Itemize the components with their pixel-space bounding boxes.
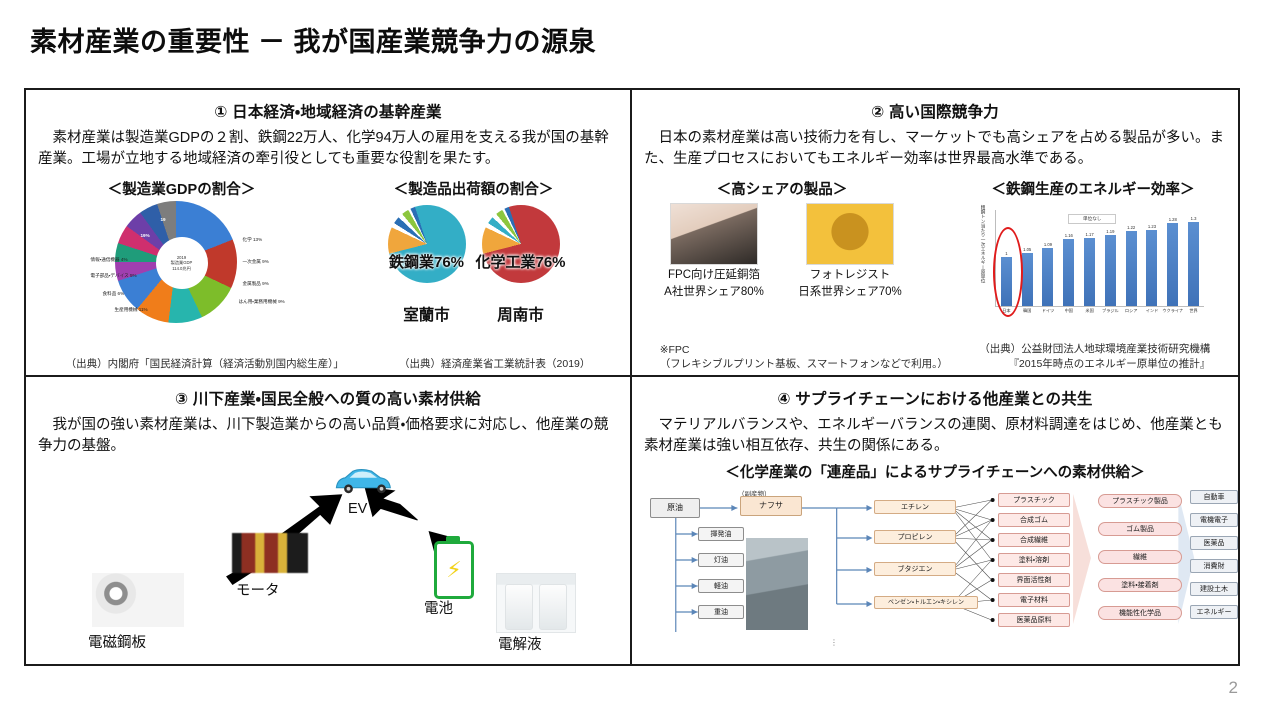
bar-value-9: 1.3 (1191, 216, 1197, 221)
quadrant-1-charts: ＜製造業GDPの割合＞ 2019 製造業GDP 114.0兆円 19 19% 化… (36, 174, 620, 325)
donut-label-3: 一次金属 9% (243, 259, 269, 265)
quadrant-2-sources: ※FPC （フレキシブルプリント基板、スマートフォンなどで利用。） （出典）公益… (632, 341, 1238, 371)
sc-crude-oil: 原油 (650, 498, 700, 518)
page-title: 素材産業の重要性 － 我が国産業競争力の源泉 (30, 20, 596, 59)
bar-col-3: 1.16 中国 (1063, 210, 1075, 306)
sc-material-4: 界面活性剤 (998, 573, 1070, 587)
donut-label-9: 生産用機械 11% (115, 307, 148, 313)
fpc-footnote: ※FPC （フレキシブルプリント基板、スマートフォンなどで利用。） (660, 344, 948, 371)
sc-industry-4: 建設土木 (1190, 582, 1238, 596)
pie-city-shunan: 周南市 (497, 303, 544, 325)
donut-wrap: 2019 製造業GDP 114.0兆円 19 19% 化学 13% 一次金属 9… (97, 203, 267, 323)
source-rite: （出典）公益財団法人地球環境産業技術研究機構 『2015年時点のエネルギー原単位… (979, 341, 1210, 371)
bar-col-5: 1.19 ブラジル (1104, 210, 1116, 306)
bolt-icon: ⚡ (446, 559, 461, 581)
bar-category-9: 世界 (1189, 308, 1197, 314)
sc-material-0: プラスチック (998, 493, 1070, 507)
ev-supply-diagram: EV モータ 電磁鋼板 ⚡ 電池 電解液 (36, 461, 620, 657)
sc-industry-5: エネルギー (1190, 605, 1238, 619)
sc-industry-2: 医薬品 (1190, 536, 1238, 550)
slide: 素材産業の重要性 － 我が国産業競争力の源泉 ① 日本経済・地域経済の基幹産業 … (0, 0, 1266, 712)
donut-label-4: 金属製品 9% (243, 281, 269, 287)
product-share-1: 日系世界シェア70% (798, 285, 902, 299)
sc-product-4: 機能性化学品 (1098, 606, 1182, 620)
sc-fraction-0: 揮発油 (698, 527, 744, 541)
quadrant-2-title: ② 高い国際競争力 (642, 100, 1228, 122)
bar-category-2: ドイツ (1042, 308, 1055, 314)
bar-value-3: 1.16 (1065, 233, 1073, 238)
quadrant-4: ④ サプライチェーンにおける他産業との共生 マテリアルバランスや、エネルギーバラ… (632, 377, 1238, 664)
supply-chain-heading: ＜化学産業の「連産品」によるサプライチェーンへの素材供給＞ (642, 461, 1228, 482)
electrical-steel-label: 電磁鋼板 (88, 631, 146, 652)
motor-image (232, 533, 308, 573)
quadrant-3-title: ③ 川下産業・国民全般への質の高い素材供給 (36, 387, 620, 409)
sc-material-3: 塗料・溶剤 (998, 553, 1070, 567)
product-list: FPC向け圧延銅箔 A社世界シェア80% フォトレジスト 日系世界シェア70% (642, 203, 922, 300)
bar-col-1: 1.05 韓国 (1021, 210, 1033, 306)
energy-efficiency-chart: ＜鉄鋼生産のエネルギー効率＞ 粗鋼トン当たり一次エネルギー原単位 単位なし 1 … (958, 174, 1228, 307)
sc-ellipsis: ⋮ (830, 638, 840, 647)
sc-olefin-2: ブタジエン (874, 562, 956, 576)
bar-value-2: 1.09 (1044, 242, 1052, 247)
pie-item-muroran: 鉄鋼業76% 室蘭市 (388, 205, 466, 325)
bar-value-1: 1.05 (1023, 247, 1031, 252)
quadrant-4-title: ④ サプライチェーンにおける他産業との共生 (642, 387, 1228, 409)
sc-olefin-1: プロピレン (874, 530, 956, 544)
bar-col-6: 1.22 ロシア (1125, 210, 1137, 306)
sc-product-3: 塗料・接着剤 (1098, 578, 1182, 592)
gdp-chart-heading: ＜製造業GDPの割合＞ (108, 178, 255, 199)
ev-label: EV (348, 501, 367, 517)
content-grid: ① 日本経済・地域経済の基幹産業 素材産業は製造業GDPの２割、鉄鋼22万人、化… (24, 88, 1240, 666)
sc-olefin-0: エチレン (874, 500, 956, 514)
bar-value-7: 1.23 (1148, 224, 1156, 229)
electrolyte-label: 電解液 (498, 633, 542, 654)
sc-naphtha: ナフサ (740, 496, 802, 516)
source-cabinet-office: （出典）内閣府「国民経済計算（経済活動別国内総生産）」 (66, 356, 344, 371)
motor-label: モータ (236, 579, 280, 600)
bar-chart-ylabel: 粗鋼トン当たり一次エネルギー原単位 (975, 205, 985, 305)
pie-label-muroran: 鉄鋼業76% (389, 251, 464, 272)
electrical-steel-image (92, 573, 184, 627)
pie-label-shunan: 化学工業76% (475, 251, 565, 272)
sc-material-1: 合成ゴム (998, 513, 1070, 527)
copper-foil-icon (670, 203, 758, 265)
pie-city-muroran: 室蘭市 (403, 303, 450, 325)
source-rite-line1: （出典）公益財団法人地球環境産業技術研究機構 (979, 343, 1210, 355)
bar-col-9: 1.3 世界 (1188, 210, 1200, 306)
chemical-plant-image (746, 538, 808, 630)
bar-category-4: 米国 (1085, 308, 1093, 314)
quadrant-1-sources: （出典）内閣府「国民経済計算（経済活動別国内総生産）」 （出典）経済産業省工業統… (26, 356, 630, 371)
product-share-0: A社世界シェア80% (664, 285, 764, 299)
products-heading: ＜高シェアの製品＞ (642, 178, 922, 199)
quadrant-2-content: ＜高シェアの製品＞ FPC向け圧延銅箔 A社世界シェア80% フォトレジスト 日… (642, 174, 1228, 307)
donut-center-value: 114.0兆円 (172, 266, 191, 271)
product-name-0: FPC向け圧延銅箔 (668, 268, 760, 282)
donut-label-0: 19 (161, 217, 166, 222)
page-number: 2 (1229, 678, 1238, 698)
sc-fraction-3: 重油 (698, 605, 744, 619)
bar-category-1: 韓国 (1023, 308, 1031, 314)
bar-category-3: 中国 (1065, 308, 1073, 314)
quadrant-4-body: マテリアルバランスや、エネルギーバランスの連関、原材料調達をはじめ、他産業とも素… (644, 415, 1226, 457)
source-rite-line2: 『2015年時点のエネルギー原単位の推計』 (1008, 358, 1210, 370)
sc-product-1: ゴム製品 (1098, 522, 1182, 536)
supply-chain-diagram: （副産物） 原油 ナフサ 揮発油 灯油 軽油 重油 エチレン プロピレン ブタジ… (642, 486, 1228, 656)
quadrant-1-title: ① 日本経済・地域経済の基幹産業 (36, 100, 620, 122)
pie-list: 鉄鋼業76% 室蘭市 化学工業76% 周南市 (388, 205, 560, 325)
product-name-1: フォトレジスト (810, 268, 891, 282)
sc-material-6: 医薬品原料 (998, 613, 1070, 627)
bar-value-6: 1.22 (1127, 225, 1135, 230)
sc-product-2: 繊維 (1098, 550, 1182, 564)
quadrant-2: ② 高い国際競争力 日本の素材産業は高い技術力を有し、マーケットでも高シェアを占… (632, 90, 1238, 377)
donut-label-5: はん用・業務用機械 9% (239, 299, 285, 305)
quadrant-2-body: 日本の素材産業は高い技術力を有し、マーケットでも高シェアを占める製品が多い。また… (644, 128, 1226, 170)
donut-center-label: 2019 製造業GDP 114.0兆円 (156, 237, 208, 289)
bar-category-6: ロシア (1125, 308, 1138, 314)
quadrant-3: ③ 川下産業・国民全般への質の高い素材供給 我が国の強い素材産業は、川下製造業か… (26, 377, 632, 664)
sc-fraction-1: 灯油 (698, 553, 744, 567)
fpc-footnote-line1: ※FPC (660, 344, 690, 356)
bar-value-8: 1.28 (1169, 217, 1177, 222)
donut-label-1: 19% (141, 233, 150, 238)
product-photoresist: フォトレジスト 日系世界シェア70% (791, 203, 909, 300)
bar-chart: 粗鋼トン当たり一次エネルギー原単位 単位なし 1 日本 1.05 (977, 203, 1209, 307)
quadrant-1-body: 素材産業は製造業GDPの２割、鉄鋼22万人、化学94万人の雇用を支える我が国の基… (38, 128, 618, 170)
donut-label-7: 電子部品・デバイス 5% (91, 273, 137, 279)
quadrant-3-body: 我が国の強い素材産業は、川下製造業からの高い品質・価格要求に対応し、他産業の競争… (38, 415, 618, 457)
bar-col-7: 1.23 インド (1146, 210, 1158, 306)
sc-material-2: 合成繊維 (998, 533, 1070, 547)
electrolyte-image (496, 573, 576, 633)
bar-value-5: 1.19 (1106, 229, 1114, 234)
bar-col-8: 1.28 ウクライナ (1167, 210, 1179, 306)
bar-category-7: インド (1146, 308, 1159, 314)
sc-fraction-2: 軽油 (698, 579, 744, 593)
battery-label: 電池 (424, 597, 453, 618)
bar-chart-plot: 単位なし 1 日本 1.05 韓国 (995, 210, 1204, 307)
quadrant-1: ① 日本経済・地域経済の基幹産業 素材産業は製造業GDPの２割、鉄鋼22万人、化… (26, 90, 632, 377)
gdp-donut-chart: ＜製造業GDPの割合＞ 2019 製造業GDP 114.0兆円 19 19% 化… (97, 174, 267, 323)
sc-industry-0: 自動車 (1190, 490, 1238, 504)
bar-col-2: 1.09 ドイツ (1042, 210, 1054, 306)
sc-product-0: プラスチック製品 (1098, 494, 1182, 508)
pie-item-shunan: 化学工業76% 周南市 (482, 205, 560, 325)
ev-car-icon (332, 463, 398, 497)
donut-label-8: 食料品 6% (103, 291, 125, 297)
photoresist-icon (806, 203, 894, 265)
energy-heading: ＜鉄鋼生産のエネルギー効率＞ (958, 178, 1228, 199)
source-meti-statistics: （出典）経済産業省工業統計表（2019） (399, 356, 590, 371)
bar-category-8: ウクライナ (1162, 308, 1183, 314)
product-copper-foil: FPC向け圧延銅箔 A社世界シェア80% (655, 203, 773, 300)
shipment-chart-heading: ＜製造品出荷額の割合＞ (394, 178, 554, 199)
sc-industry-1: 電機電子 (1190, 513, 1238, 527)
donut-label-6: 情報・通信機器 4% (91, 257, 128, 263)
sc-material-5: 電子材料 (998, 593, 1070, 607)
donut-label-2: 化学 13% (243, 237, 263, 243)
sc-industry-3: 消費財 (1190, 559, 1238, 573)
bar-value-4: 1.17 (1086, 232, 1094, 237)
sc-olefin-3: ベンゼン・トルエン・キシレン (874, 596, 978, 609)
shipment-pie-charts: ＜製造品出荷額の割合＞ 鉄鋼業76% 室蘭市 化学工業76% 周南市 (388, 174, 560, 325)
fpc-footnote-line2: （フレキシブルプリント基板、スマートフォンなどで利用。） (660, 358, 948, 370)
bar-category-5: ブラジル (1102, 308, 1119, 314)
bar-col-4: 1.17 米国 (1084, 210, 1096, 306)
highlight-ellipse-japan (993, 227, 1023, 317)
high-share-products: ＜高シェアの製品＞ FPC向け圧延銅箔 A社世界シェア80% フォトレジスト 日… (642, 174, 922, 300)
battery-icon: ⚡ (434, 541, 474, 599)
